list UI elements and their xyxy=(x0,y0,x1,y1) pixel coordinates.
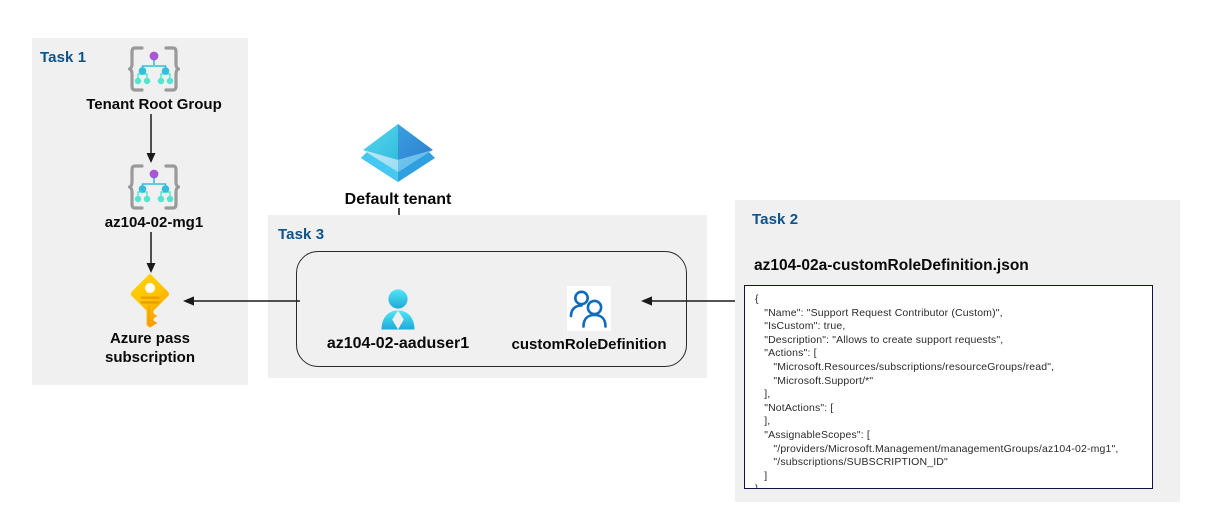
node-label-az104-02-mg1: az104-02-mg1 xyxy=(72,214,236,233)
node-label-line1: Azure pass xyxy=(110,330,190,347)
json-code-content: { "Name": "Support Request Contributor (… xyxy=(755,293,1142,489)
arrow-task3-to-subscription xyxy=(182,292,302,315)
management-group-icon xyxy=(72,163,236,211)
azure-tenant-pyramid-icon xyxy=(312,120,484,188)
node-label-line2: subscription xyxy=(105,349,195,366)
node-default-tenant[interactable]: Default tenant xyxy=(312,120,484,210)
json-code-box[interactable]: { "Name": "Support Request Contributor (… xyxy=(744,285,1153,489)
node-azure-pass-subscription[interactable]: Azure pass subscription xyxy=(60,272,240,368)
management-group-icon xyxy=(72,45,236,93)
task3-title: Task 3 xyxy=(278,226,324,243)
node-label-tenant-root-group: Tenant Root Group xyxy=(72,96,236,115)
user-icon xyxy=(312,288,484,332)
task2-file-name: az104-02a-customRoleDefinition.json xyxy=(754,257,1029,275)
node-tenant-root-group[interactable]: Tenant Root Group xyxy=(72,45,236,115)
node-az104-02-aaduser1[interactable]: az104-02-aaduser1 xyxy=(312,288,484,354)
node-label-azure-pass-subscription: Azure pass subscription xyxy=(60,330,240,368)
arrow-json-to-task3 xyxy=(640,292,744,315)
node-az104-02-mg1[interactable]: az104-02-mg1 xyxy=(72,163,236,233)
node-label-az104-02-aaduser1: az104-02-aaduser1 xyxy=(312,334,484,354)
task2-title: Task 2 xyxy=(752,211,798,228)
arrow-tenant-root-to-mg1 xyxy=(140,114,162,169)
node-label-custom-role-definition: customRoleDefinition xyxy=(500,336,678,355)
node-label-default-tenant: Default tenant xyxy=(312,190,484,210)
